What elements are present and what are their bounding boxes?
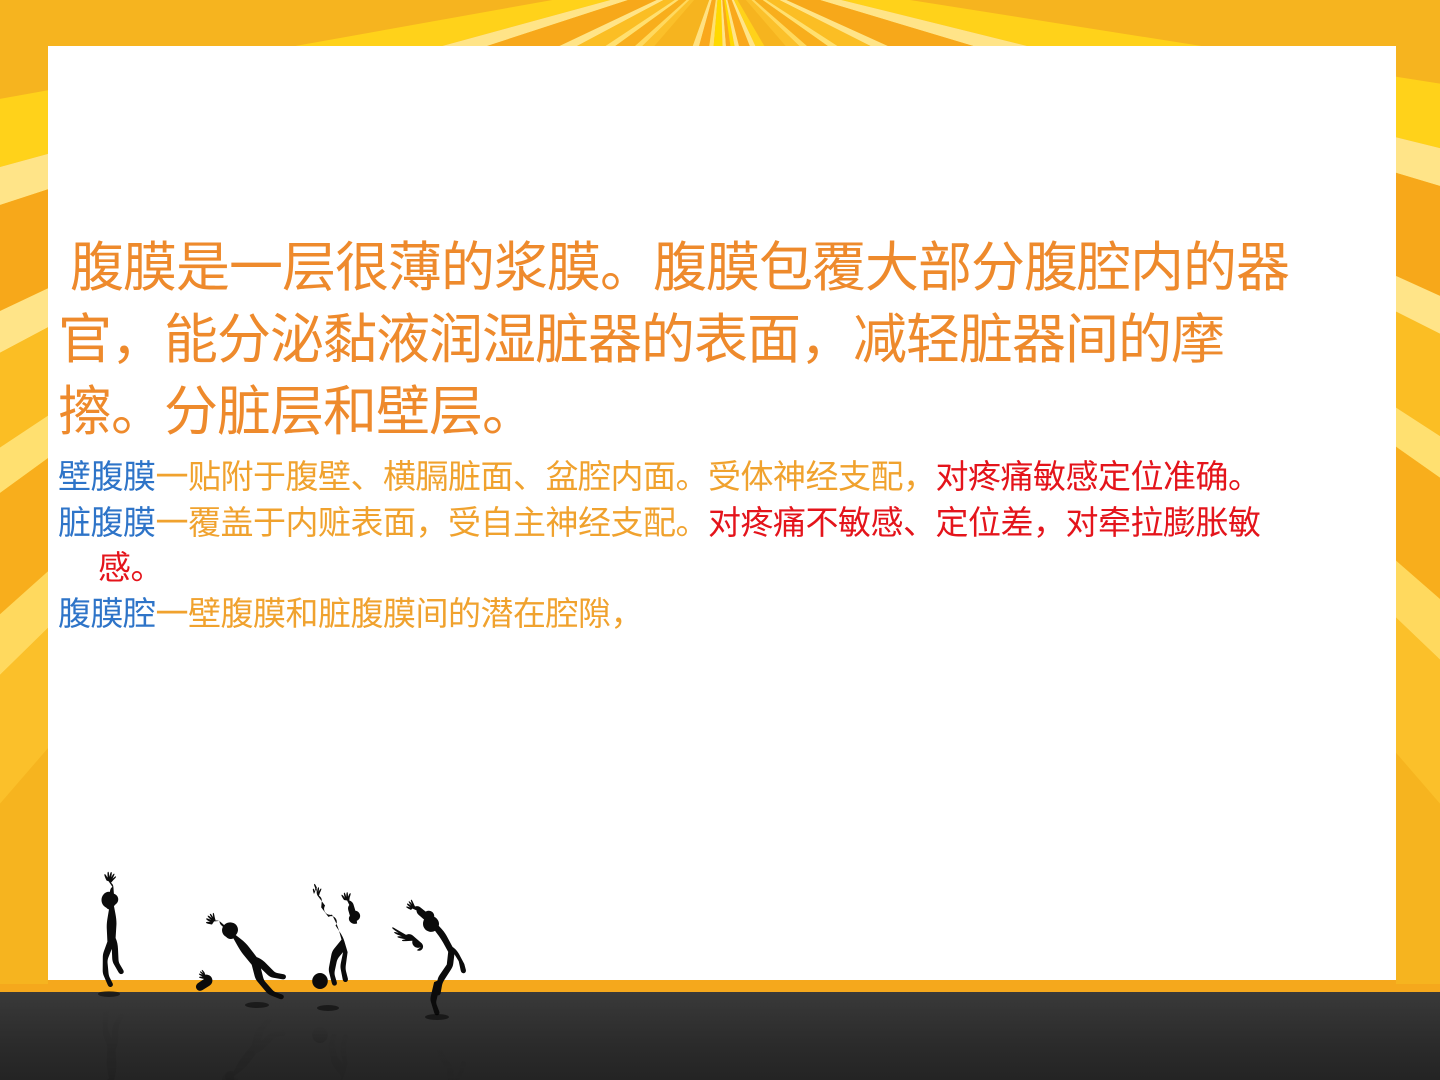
dancer-3-reflection <box>312 1027 348 1080</box>
dancer-1 <box>102 872 124 987</box>
dancer-1-contact <box>98 991 120 997</box>
dancer-2-reflection <box>206 1011 286 1080</box>
term-emphasis: 对疼痛敏感定位准确。 <box>936 457 1261 496</box>
term-description: 一壁腹膜和脏腹膜间的潜在腔隙， <box>156 594 644 633</box>
dancer-2-contact <box>245 1002 269 1008</box>
dancer-3 <box>312 884 360 989</box>
term-description: 一覆盖于内赃表面，受自主神经支配。 <box>156 503 709 542</box>
dancer-2 <box>196 913 286 999</box>
term-label: 脏腹膜 <box>58 503 156 542</box>
term-description: 一贴附于腹壁、横膈脏面、盆腔内面。受体神经支配， <box>156 457 936 496</box>
term-label: 壁腹膜 <box>58 457 156 496</box>
dancer-4-contact <box>425 1014 449 1020</box>
list-item: 壁腹膜一贴附于腹壁、横膈脏面、盆腔内面。受体神经支配，对疼痛敏感定位准确。 <box>58 455 1304 500</box>
list-item: 脏腹膜一覆盖于内赃表面，受自主神经支配。对疼痛不敏感、定位差，对牵拉膨胀敏感。 <box>58 501 1304 591</box>
slide-canvas: 解剖生理概要 腹膜是一层很薄的浆膜。腹膜包覆大部分腹腔内的器官，能分泌黏液润湿脏… <box>0 0 1440 1080</box>
list-item: 腹膜腔一壁腹膜和脏腹膜间的潜在腔隙， <box>58 592 1304 637</box>
term-label: 腹膜腔 <box>58 594 156 633</box>
dancers-icon <box>52 862 492 1080</box>
dancer-4 <box>392 900 466 1016</box>
body-content: 腹膜是一层很薄的浆膜。腹膜包覆大部分腹腔内的器官，能分泌黏液润湿脏器的表面，减轻… <box>58 232 1304 638</box>
dancer-silhouettes <box>52 862 492 1080</box>
definition-list: 壁腹膜一贴附于腹壁、横膈脏面、盆腔内面。受体神经支配，对疼痛敏感定位准确。 脏腹… <box>58 455 1304 637</box>
dancer-4-reflection <box>406 1039 466 1080</box>
lead-paragraph: 腹膜是一层很薄的浆膜。腹膜包覆大部分腹腔内的器官，能分泌黏液润湿脏器的表面，减轻… <box>58 232 1304 447</box>
dancer-3-contact <box>317 1005 339 1011</box>
dancer-1-reflection <box>102 1001 124 1080</box>
